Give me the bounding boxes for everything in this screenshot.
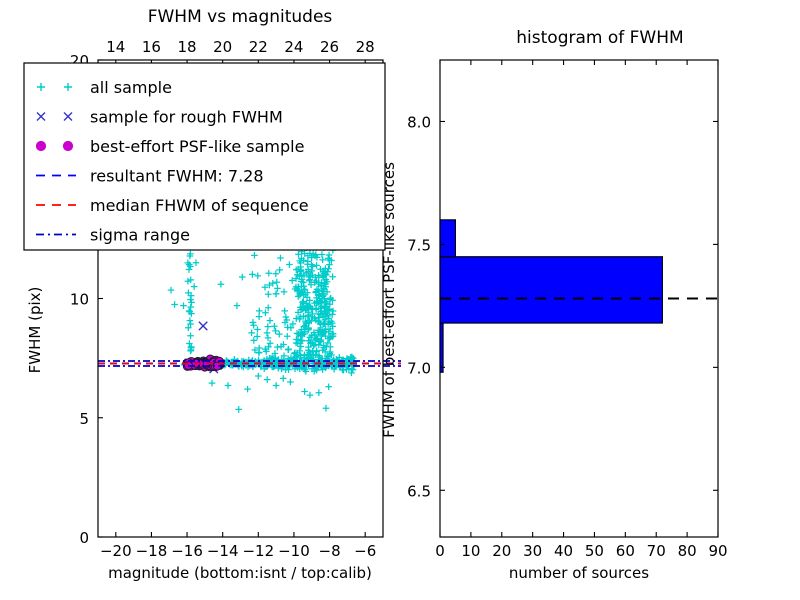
left-y-tick-label: 10 [70, 291, 89, 309]
legend-label: sigma range [90, 226, 190, 245]
left-panel-title: FWHM vs magnitudes [148, 7, 333, 27]
right-x-tick-label: 80 [678, 542, 697, 560]
left-bottom-tick-label: −16 [171, 542, 203, 560]
left-y-tick-label: 5 [79, 410, 89, 428]
left-top-tick-label: 24 [284, 38, 303, 56]
right-x-tick-label: 90 [708, 542, 727, 560]
left-top-tick-label: 22 [249, 38, 268, 56]
legend-label: sample for rough FWHM [90, 108, 283, 127]
legend-rough-sample[interactable]: sample for rough FWHM [28, 102, 381, 130]
legend-label: all sample [90, 78, 172, 97]
left-bottom-tick-label: −12 [242, 542, 274, 560]
left-bottom-tick-label: −20 [100, 542, 132, 560]
legend-label: resultant FWHM: 7.28 [90, 167, 264, 186]
legend-row-hitbox[interactable] [28, 72, 381, 100]
left-y-tick-label: 0 [79, 529, 89, 547]
legend-resultant-fwhm[interactable]: resultant FWHM: 7.28 [28, 161, 381, 189]
legend-dot-icon [36, 141, 45, 150]
right-y-tick-label: 6.5 [407, 482, 431, 500]
right-xlabel: number of sources [509, 564, 649, 582]
right-panel-title: histogram of FWHM [516, 28, 683, 48]
left-top-tick-label: 18 [178, 38, 197, 56]
left-top-tick-label: 28 [356, 38, 375, 56]
legend-median-fwhm[interactable]: median FHWM of sequence [28, 190, 381, 218]
figure-canvas: FWHM vs magnitudes −20−18−16−14−12−10−8−… [0, 0, 800, 600]
legend-sigma-range[interactable]: sigma range [28, 220, 381, 248]
left-xlabel: magnitude (bottom:isnt / top:calib) [108, 564, 372, 582]
legend-row-hitbox[interactable] [28, 220, 381, 248]
left-top-tick-label: 26 [320, 38, 339, 56]
left-bottom-tick-label: −14 [207, 542, 239, 560]
left-ylabel: FWHM (pix) [26, 287, 44, 374]
right-x-tick-label: 60 [616, 542, 635, 560]
right-y-tick-label: 7.0 [407, 359, 431, 377]
histogram-bar [440, 257, 662, 323]
legend-label: median FHWM of sequence [90, 196, 309, 215]
left-bottom-tick-label: −18 [136, 542, 168, 560]
right-x-tick-label: 40 [554, 542, 573, 560]
right-x-tick-label: 30 [523, 542, 542, 560]
left-top-tick-label: 14 [106, 38, 125, 56]
left-bottom-tick-label: −6 [354, 542, 376, 560]
left-top-tick-label: 20 [213, 38, 232, 56]
legend-all-sample[interactable]: all sample [28, 72, 381, 100]
legend-label: best-effort PSF-like sample [90, 137, 304, 156]
right-x-tick-label: 70 [647, 542, 666, 560]
matplotlib-figure: FWHM vs magnitudes −20−18−16−14−12−10−8−… [0, 0, 800, 600]
right-x-tick-label: 0 [435, 542, 445, 560]
right-x-tick-label: 20 [492, 542, 511, 560]
right-x-tick-label: 50 [585, 542, 604, 560]
left-top-tick-label: 16 [142, 38, 161, 56]
legend-psf-sample[interactable]: best-effort PSF-like sample [28, 131, 381, 159]
right-x-tick-label: 10 [461, 542, 480, 560]
right-y-tick-label: 8.0 [407, 113, 431, 131]
histogram-bar [440, 220, 455, 257]
legend-dot-icon [63, 141, 72, 150]
left-bottom-tick-label: −10 [278, 542, 310, 560]
right-y-tick-label: 7.5 [407, 236, 431, 254]
legend[interactable]: all samplesample for rough FWHMbest-effo… [24, 63, 385, 250]
left-bottom-tick-label: −8 [319, 542, 341, 560]
